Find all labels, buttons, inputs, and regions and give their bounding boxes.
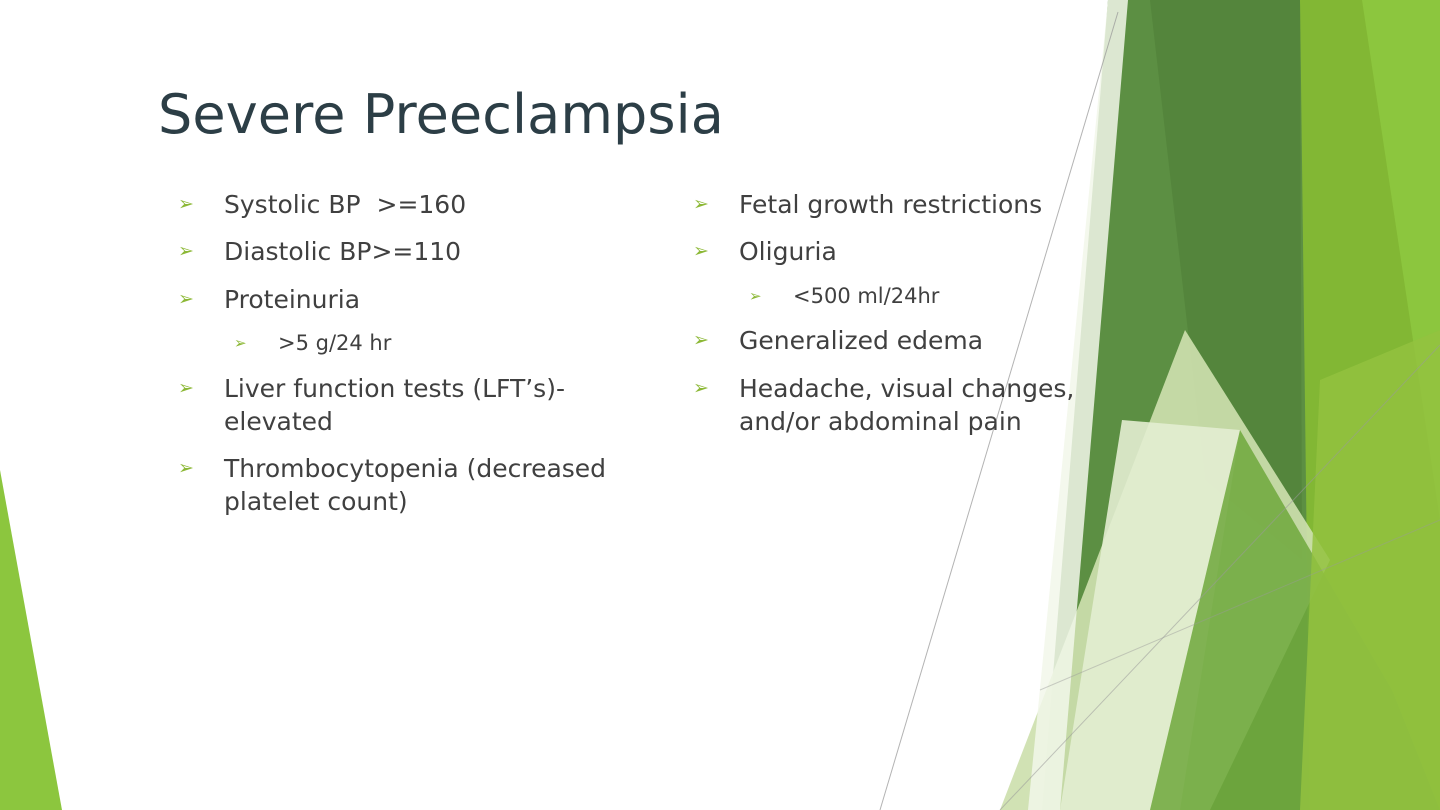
arrow-bullet-icon: ➢ [693, 324, 739, 350]
bullet-item: ➢Liver function tests (LFT’s)-elevated [178, 372, 608, 439]
bullet-item-label: Oliguria [739, 235, 837, 268]
shape-bright-green-band [1160, 0, 1440, 810]
arrow-bullet-icon: ➢ [178, 372, 224, 398]
bullet-item: ➢Thrombocytopenia (decreased platelet co… [178, 452, 608, 519]
bullet-item-label: Systolic BP >=160 [224, 188, 466, 221]
arrow-bullet-icon: ➢ [693, 188, 739, 214]
shape-medium-green-diagonal [1150, 430, 1440, 810]
bullet-item: ➢Generalized edema [693, 324, 1123, 357]
bullet-item-label: Liver function tests (LFT’s)-elevated [224, 372, 608, 439]
hairline-diagonal-cross [1040, 520, 1440, 690]
bullet-item: ➢>5 g/24 hr [234, 330, 608, 358]
bullet-item-label: Diastolic BP>=110 [224, 235, 461, 268]
arrow-bullet-icon: ➢ [693, 235, 739, 261]
slide-canvas: Severe Preeclampsia ➢Systolic BP >=160➢D… [0, 0, 1440, 810]
bullet-item: ➢Systolic BP >=160 [178, 188, 608, 221]
arrow-bullet-icon: ➢ [234, 330, 278, 351]
bullet-item: ➢Fetal growth restrictions [693, 188, 1123, 221]
shape-bottom-left-wedge [0, 470, 62, 810]
left-column: ➢Systolic BP >=160➢Diastolic BP>=110➢Pro… [178, 188, 608, 533]
bullet-item-label: <500 ml/24hr [793, 283, 939, 311]
arrow-bullet-icon: ➢ [693, 372, 739, 398]
shape-dark-green-overlay [1150, 0, 1302, 560]
bullet-item-label: Proteinuria [224, 283, 360, 316]
bullet-item: ➢<500 ml/24hr [749, 283, 1123, 311]
bullet-item: ➢Oliguria [693, 235, 1123, 268]
arrow-bullet-icon: ➢ [178, 188, 224, 214]
bullet-item: ➢Proteinuria [178, 283, 608, 316]
shape-light-green-right-wedge [1300, 330, 1440, 810]
bullet-item: ➢Diastolic BP>=110 [178, 235, 608, 268]
bullet-item-label: Thrombocytopenia (decreased platelet cou… [224, 452, 608, 519]
page-title: Severe Preeclampsia [158, 86, 1058, 144]
shape-pale-green-band-upper [1060, 420, 1240, 810]
bullet-item-label: >5 g/24 hr [278, 330, 391, 358]
arrow-bullet-icon: ➢ [178, 235, 224, 261]
bullet-item-label: Fetal growth restrictions [739, 188, 1042, 221]
shape-right-bright-band [1200, 0, 1440, 810]
bullet-item-label: Headache, visual changes, and/or abdomin… [739, 372, 1123, 439]
arrow-bullet-icon: ➢ [178, 452, 224, 478]
bullet-item-label: Generalized edema [739, 324, 983, 357]
bullet-item: ➢Headache, visual changes, and/or abdomi… [693, 372, 1123, 439]
arrow-bullet-icon: ➢ [749, 283, 793, 304]
arrow-bullet-icon: ➢ [178, 283, 224, 309]
right-column: ➢Fetal growth restrictions➢Oliguria➢<500… [693, 188, 1123, 452]
